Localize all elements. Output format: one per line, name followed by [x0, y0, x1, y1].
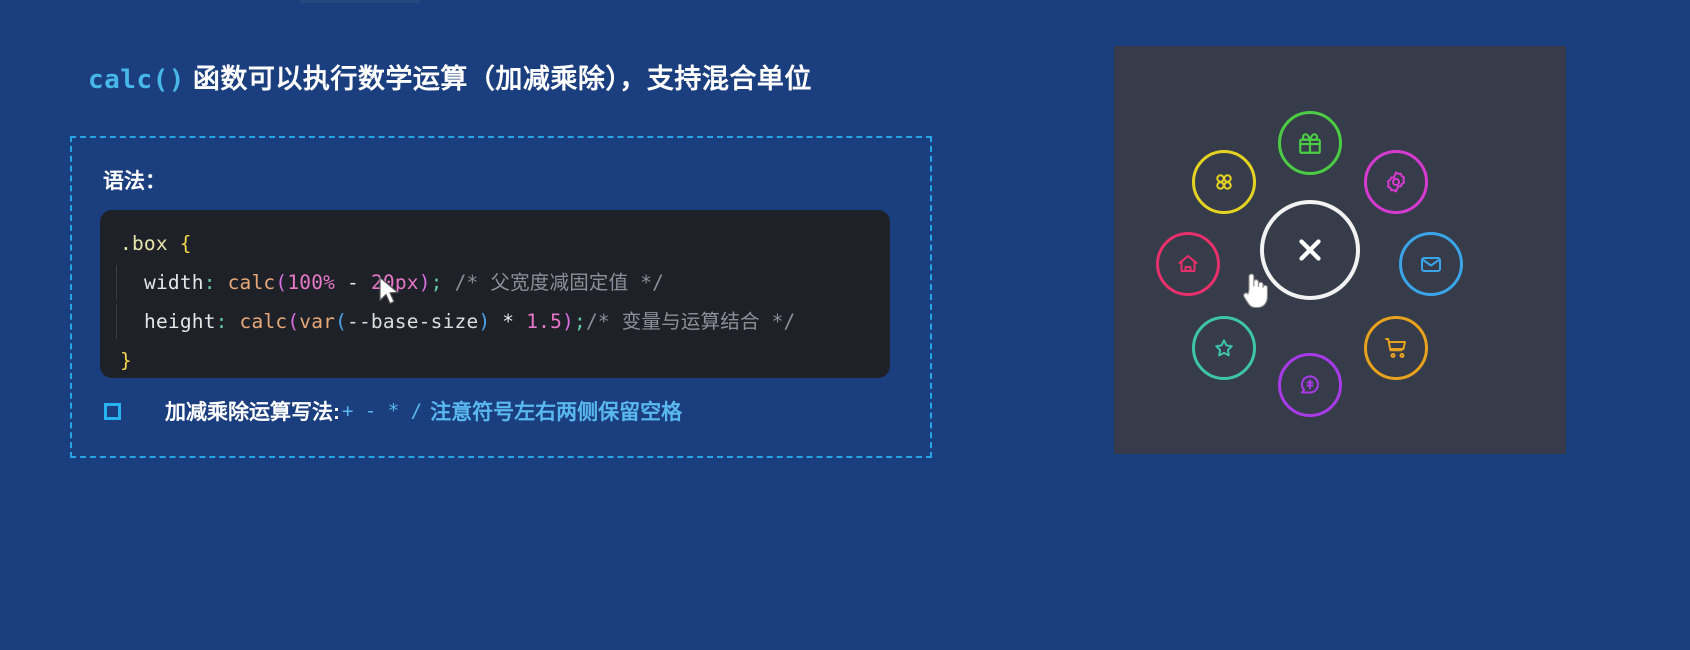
paren-open-2: (	[275, 271, 287, 294]
radial-item-chat[interactable]	[1278, 353, 1342, 417]
gift-icon	[1297, 130, 1323, 156]
radial-close-button[interactable]	[1260, 200, 1360, 300]
radial-item-apps[interactable]	[1192, 150, 1256, 214]
value-1point5: 1.5	[526, 310, 562, 333]
paren2-open-3: (	[335, 310, 347, 333]
page-title: calc() 函数可以执行数学运算（加减乘除），支持混合单位	[88, 57, 812, 96]
settings-icon	[1384, 170, 1408, 194]
mail-icon	[1419, 252, 1443, 276]
code-comment-2: /* 父宽度减固定值 */	[455, 271, 665, 294]
semicolon-3: ;	[574, 310, 586, 333]
page-title-rest: 函数可以执行数学运算（加减乘除），支持混合单位	[185, 64, 812, 94]
code-comment-3: /* 变量与运算结合 */	[586, 310, 796, 333]
slide-canvas: calc() 函数可以执行数学运算（加减乘除），支持混合单位 语法： .box …	[0, 0, 1690, 650]
colon-3: :	[216, 310, 228, 333]
star-icon	[1212, 336, 1236, 360]
apps-icon	[1212, 170, 1236, 194]
css-property-height: height	[144, 310, 216, 333]
brace-open: {	[180, 232, 192, 255]
brace-close: }	[120, 349, 132, 372]
paren-open-3: (	[287, 310, 299, 333]
chat-icon	[1298, 373, 1322, 397]
code-line-4: }	[100, 341, 890, 378]
radial-menu-panel	[1114, 46, 1566, 454]
paren-close-2: )	[419, 271, 431, 294]
content-column: calc() 函数可以执行数学运算（加减乘除），支持混合单位 语法： .box …	[0, 0, 1030, 650]
css-selector: .box	[120, 232, 168, 255]
close-icon	[1293, 233, 1327, 267]
syntax-panel: 语法： .box { width: calc(100% - 20px); /* …	[70, 136, 932, 458]
bullet-label: 加减乘除运算写法:	[165, 396, 340, 426]
var-function: var	[299, 310, 335, 333]
syntax-label: 语法：	[103, 165, 166, 195]
value-100pct: 100%	[287, 271, 335, 294]
calc-function-3: calc	[240, 310, 288, 333]
operator-multiply: *	[502, 310, 514, 333]
cart-icon	[1384, 336, 1408, 360]
square-bullet-icon	[104, 403, 121, 420]
paren2-close-3: )	[478, 310, 490, 333]
page-title-function: calc()	[88, 65, 185, 95]
radial-item-favorite[interactable]	[1192, 316, 1256, 380]
radial-item-gift[interactable]	[1278, 111, 1342, 175]
value-20px: 20px	[371, 271, 419, 294]
radial-item-cart[interactable]	[1364, 316, 1428, 380]
code-line-3: height: calc(var(--base-size) * 1.5);/* …	[100, 302, 890, 341]
radial-item-home[interactable]	[1156, 232, 1220, 296]
home-icon	[1176, 252, 1200, 276]
code-line-1: .box {	[100, 224, 890, 263]
bullet-operators: + - * /	[342, 400, 422, 422]
colon-2: :	[204, 271, 216, 294]
radial-item-mail[interactable]	[1399, 232, 1463, 296]
code-block[interactable]: .box { width: calc(100% - 20px); /* 父宽度减…	[100, 210, 890, 378]
paren-close-3: )	[562, 310, 574, 333]
semicolon-2: ;	[431, 271, 443, 294]
css-variable-name: --base-size	[347, 310, 478, 333]
bullet-row: 加减乘除运算写法: + - * / 注意符号左右两侧保留空格	[104, 396, 682, 426]
radial-item-settings[interactable]	[1364, 150, 1428, 214]
calc-function-2: calc	[228, 271, 276, 294]
bullet-note: 注意符号左右两侧保留空格	[430, 396, 682, 426]
css-property-width: width	[144, 271, 204, 294]
code-line-2: width: calc(100% - 20px); /* 父宽度减固定值 */	[100, 263, 890, 302]
operator-minus: -	[347, 271, 359, 294]
